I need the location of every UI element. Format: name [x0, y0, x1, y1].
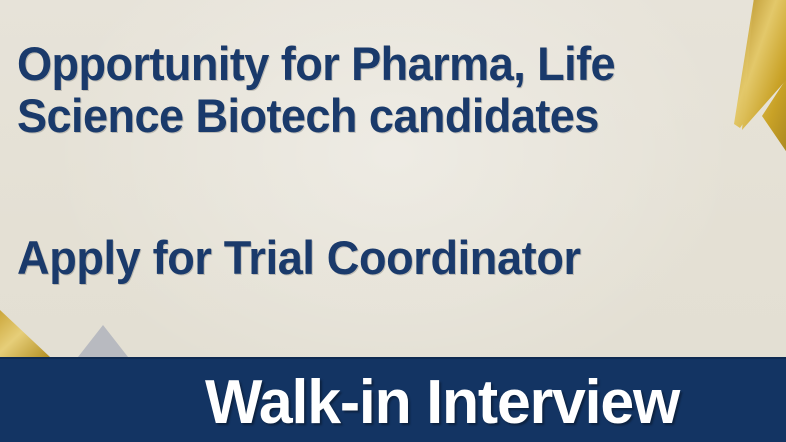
- gray-triangle-svg: [60, 322, 160, 360]
- headline-line-2: Science Biotech candidates: [17, 90, 747, 142]
- gold-wedge-icon: [0, 300, 130, 360]
- footer-bar: Walk-in Interview: [0, 357, 786, 442]
- gold-wedge-svg: [0, 300, 130, 360]
- subheadline: Apply for Trial Coordinator: [17, 232, 777, 284]
- promo-poster: Opportunity for Pharma, Life Science Bio…: [0, 0, 786, 442]
- headline: Opportunity for Pharma, Life Science Bio…: [17, 38, 777, 142]
- gray-triangle-icon: [60, 322, 160, 360]
- subheadline-line-1: Apply for Trial Coordinator: [17, 232, 747, 284]
- footer-label: Walk-in Interview: [205, 364, 679, 442]
- headline-line-1: Opportunity for Pharma, Life: [17, 38, 747, 90]
